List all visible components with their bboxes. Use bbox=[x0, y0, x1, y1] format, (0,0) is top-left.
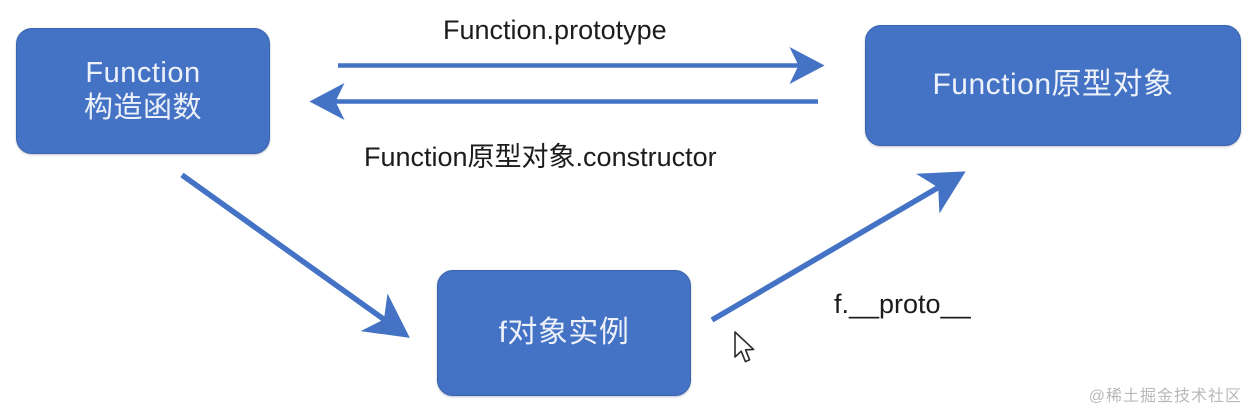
arrow-new-instance bbox=[182, 175, 396, 328]
edge-label-constructor: Function原型对象.constructor bbox=[364, 135, 717, 174]
mouse-pointer-icon bbox=[733, 330, 759, 368]
watermark: @稀土掘金技术社区 bbox=[1089, 382, 1242, 406]
edge-label-prototype: Function.prototype bbox=[443, 15, 667, 46]
node-f-instance[interactable]: f对象实例 bbox=[437, 270, 691, 396]
node-function-prototype-object-label: Function原型对象 bbox=[932, 67, 1173, 104]
edge-label-proto: f.__proto__ bbox=[834, 289, 971, 320]
node-function-constructor[interactable]: Function 构造函数 bbox=[16, 28, 270, 154]
diagram-canvas: Function 构造函数 Function原型对象 f对象实例 Functio… bbox=[0, 0, 1254, 414]
node-f-instance-label: f对象实例 bbox=[499, 315, 630, 352]
node-function-prototype-object[interactable]: Function原型对象 bbox=[865, 25, 1241, 146]
node-function-constructor-line2: 构造函数 bbox=[84, 91, 202, 126]
node-function-constructor-line1: Function bbox=[85, 56, 200, 91]
